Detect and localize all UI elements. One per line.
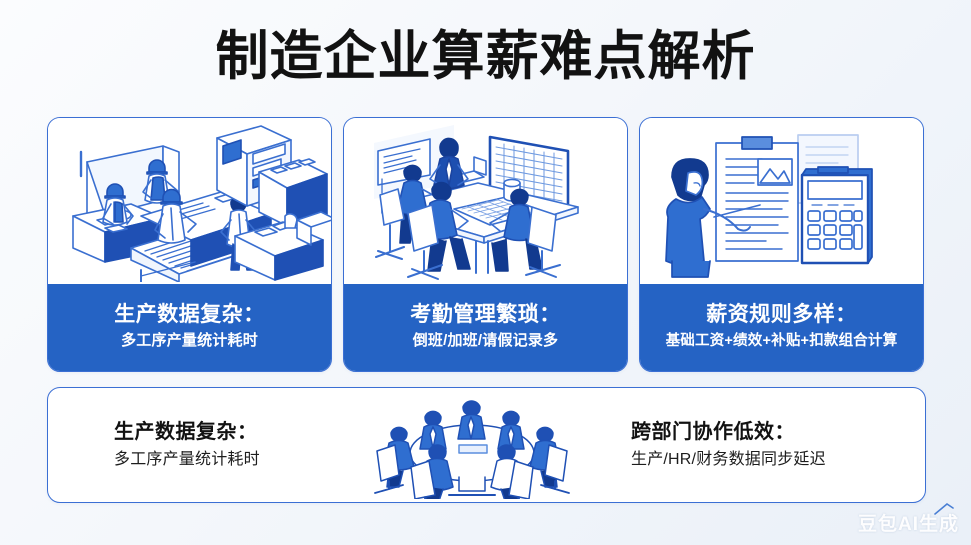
bottom-panel[interactable]: 生产数据复杂： 多工序产量统计耗时 [47,387,926,503]
round-table-meeting-illustration [348,388,595,502]
card-subtitle: 倒班/加班/请假记录多 [413,329,559,353]
card-band: 生产数据复杂： 多工序产量统计耗时 [48,284,331,371]
card-title: 生产数据复杂： [114,301,265,329]
page-title: 制造企业算薪难点解析 [0,26,971,88]
card-title: 薪资规则多样： [706,301,857,329]
bottom-right-text: 跨部门协作低效： 生产/HR/财务数据同步延迟 [595,418,925,473]
slide-canvas: 制造企业算薪难点解析 [0,0,971,545]
card-band: 考勤管理繁琐： 倒班/加班/请假记录多 [344,284,627,371]
bottom-left-title: 生产数据复杂： [114,418,348,447]
factory-production-line-illustration [48,118,331,284]
bottom-left-text: 生产数据复杂： 多工序产量统计耗时 [48,418,348,473]
cards-row: 生产数据复杂： 多工序产量统计耗时 [47,117,924,372]
watermark: 豆包AI生成 [858,512,959,538]
card-production-data[interactable]: 生产数据复杂： 多工序产量统计耗时 [47,117,332,372]
bottom-right-title: 跨部门协作低效： [631,418,925,447]
card-subtitle: 多工序产量统计耗时 [121,329,258,353]
card-title: 考勤管理繁琐： [410,301,561,329]
card-salary-rules[interactable]: 薪资规则多样： 基础工资+绩效+补贴+扣款组合计算 [639,117,924,372]
card-attendance[interactable]: 考勤管理繁琐： 倒班/加班/请假记录多 [343,117,628,372]
document-calculator-illustration [640,118,923,284]
bottom-right-subtitle: 生产/HR/财务数据同步延迟 [631,447,925,473]
bottom-left-subtitle: 多工序产量统计耗时 [114,447,348,473]
card-subtitle: 基础工资+绩效+补贴+扣款组合计算 [666,329,898,353]
card-band: 薪资规则多样： 基础工资+绩效+补贴+扣款组合计算 [640,284,923,371]
meeting-room-schedule-illustration [344,118,627,284]
